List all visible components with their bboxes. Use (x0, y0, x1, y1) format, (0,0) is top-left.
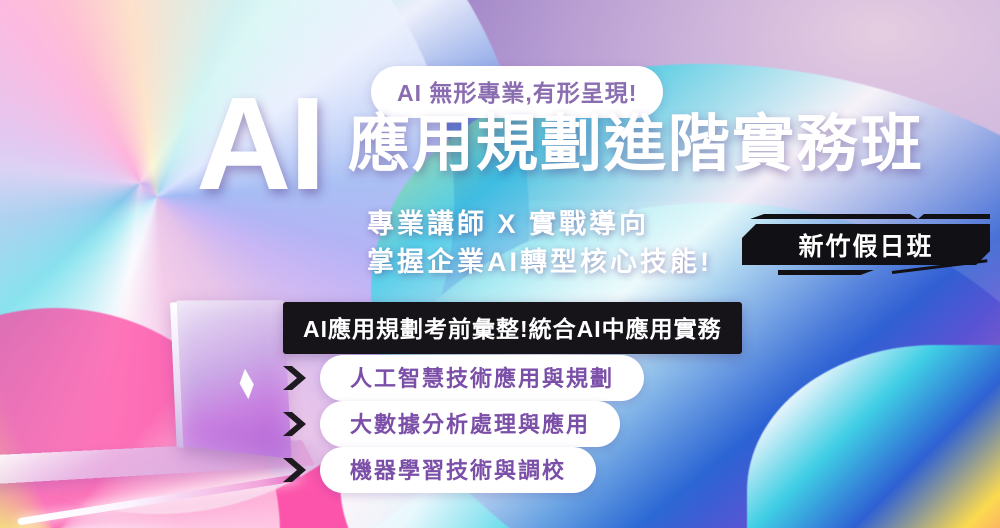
subtitle-line-1: 專業講師 X 實戰導向 (367, 205, 712, 243)
chevron-right-icon (281, 457, 311, 483)
badge-body: 新竹假日班 (742, 224, 990, 265)
list-item: 機器學習技術與調校 (281, 448, 644, 492)
list-item-label: 機器學習技術與調校 (320, 447, 596, 493)
subtitle-line-2: 掌握企業AI轉型核心技能! (367, 243, 712, 281)
subtitle-block: 專業講師 X 實戰導向 掌握企業AI轉型核心技能! (367, 205, 712, 282)
page-title: 應用規劃進階實務班 (348, 110, 924, 179)
class-location-badge: 新竹假日班 (742, 214, 994, 280)
list-item: 大數據分析處理與應用 (281, 402, 644, 446)
ai-course-banner: AI 無形專業,有形呈現! AI 應用規劃進階實務班 專業講師 X 實戰導向 掌… (0, 0, 1000, 528)
list-item: 人工智慧技術應用與規劃 (281, 356, 644, 400)
chevron-right-icon (281, 411, 311, 437)
ai-wordmark: AI (196, 78, 324, 210)
list-item-label: 人工智慧技術應用與規劃 (320, 355, 644, 401)
highlight-strip: AI應用規劃考前彙整!統合AI中應用實務 (283, 302, 742, 354)
badge-accent-line-top-right (918, 214, 990, 219)
list-item-label: 大數據分析處理與應用 (320, 401, 620, 447)
chevron-right-icon (281, 365, 311, 391)
badge-label: 新竹假日班 (798, 227, 933, 263)
badge-accent-line-bottom (778, 270, 874, 275)
banner-content: AI 無形專業,有形呈現! AI 應用規劃進階實務班 專業講師 X 實戰導向 掌… (0, 0, 1000, 528)
course-topic-list: 人工智慧技術應用與規劃 大數據分析處理與應用 機器學習技術與調校 (281, 356, 644, 494)
